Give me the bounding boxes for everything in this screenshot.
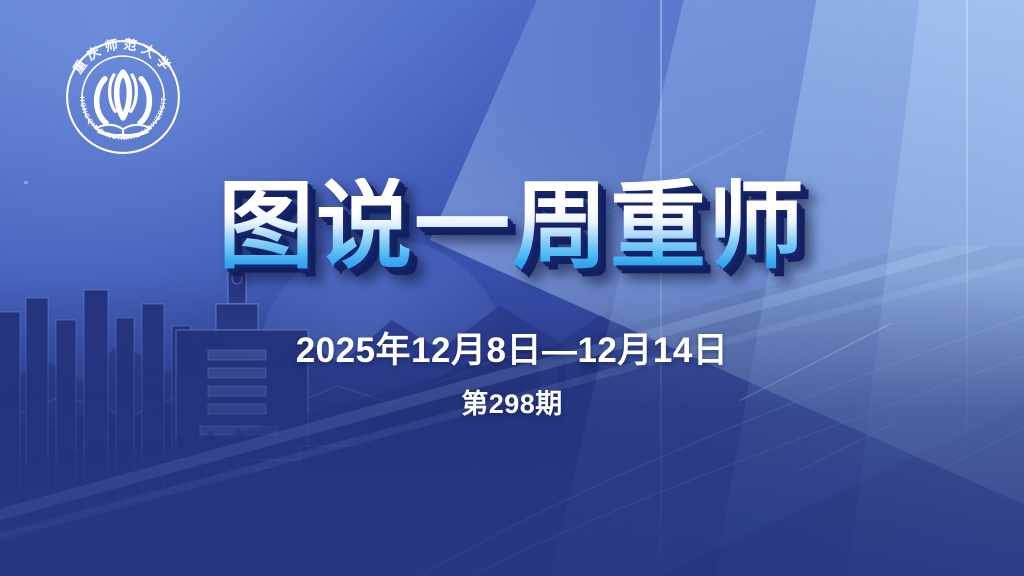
decorative-speck: [24, 181, 28, 184]
chongqing-normal-university-logo: 重庆师范大学 CHONGQING NORMAL UNIVERSITY: [44, 32, 202, 162]
issue-number-text: 第298期: [0, 382, 1024, 421]
date-range-text: 2025年12月8日—12月14日: [0, 322, 1024, 373]
background-bottom-shade: [0, 276, 1024, 576]
poster-slide: 重庆师范大学 CHONGQING NORMAL UNIVERSITY 图说一周重…: [0, 0, 1024, 576]
